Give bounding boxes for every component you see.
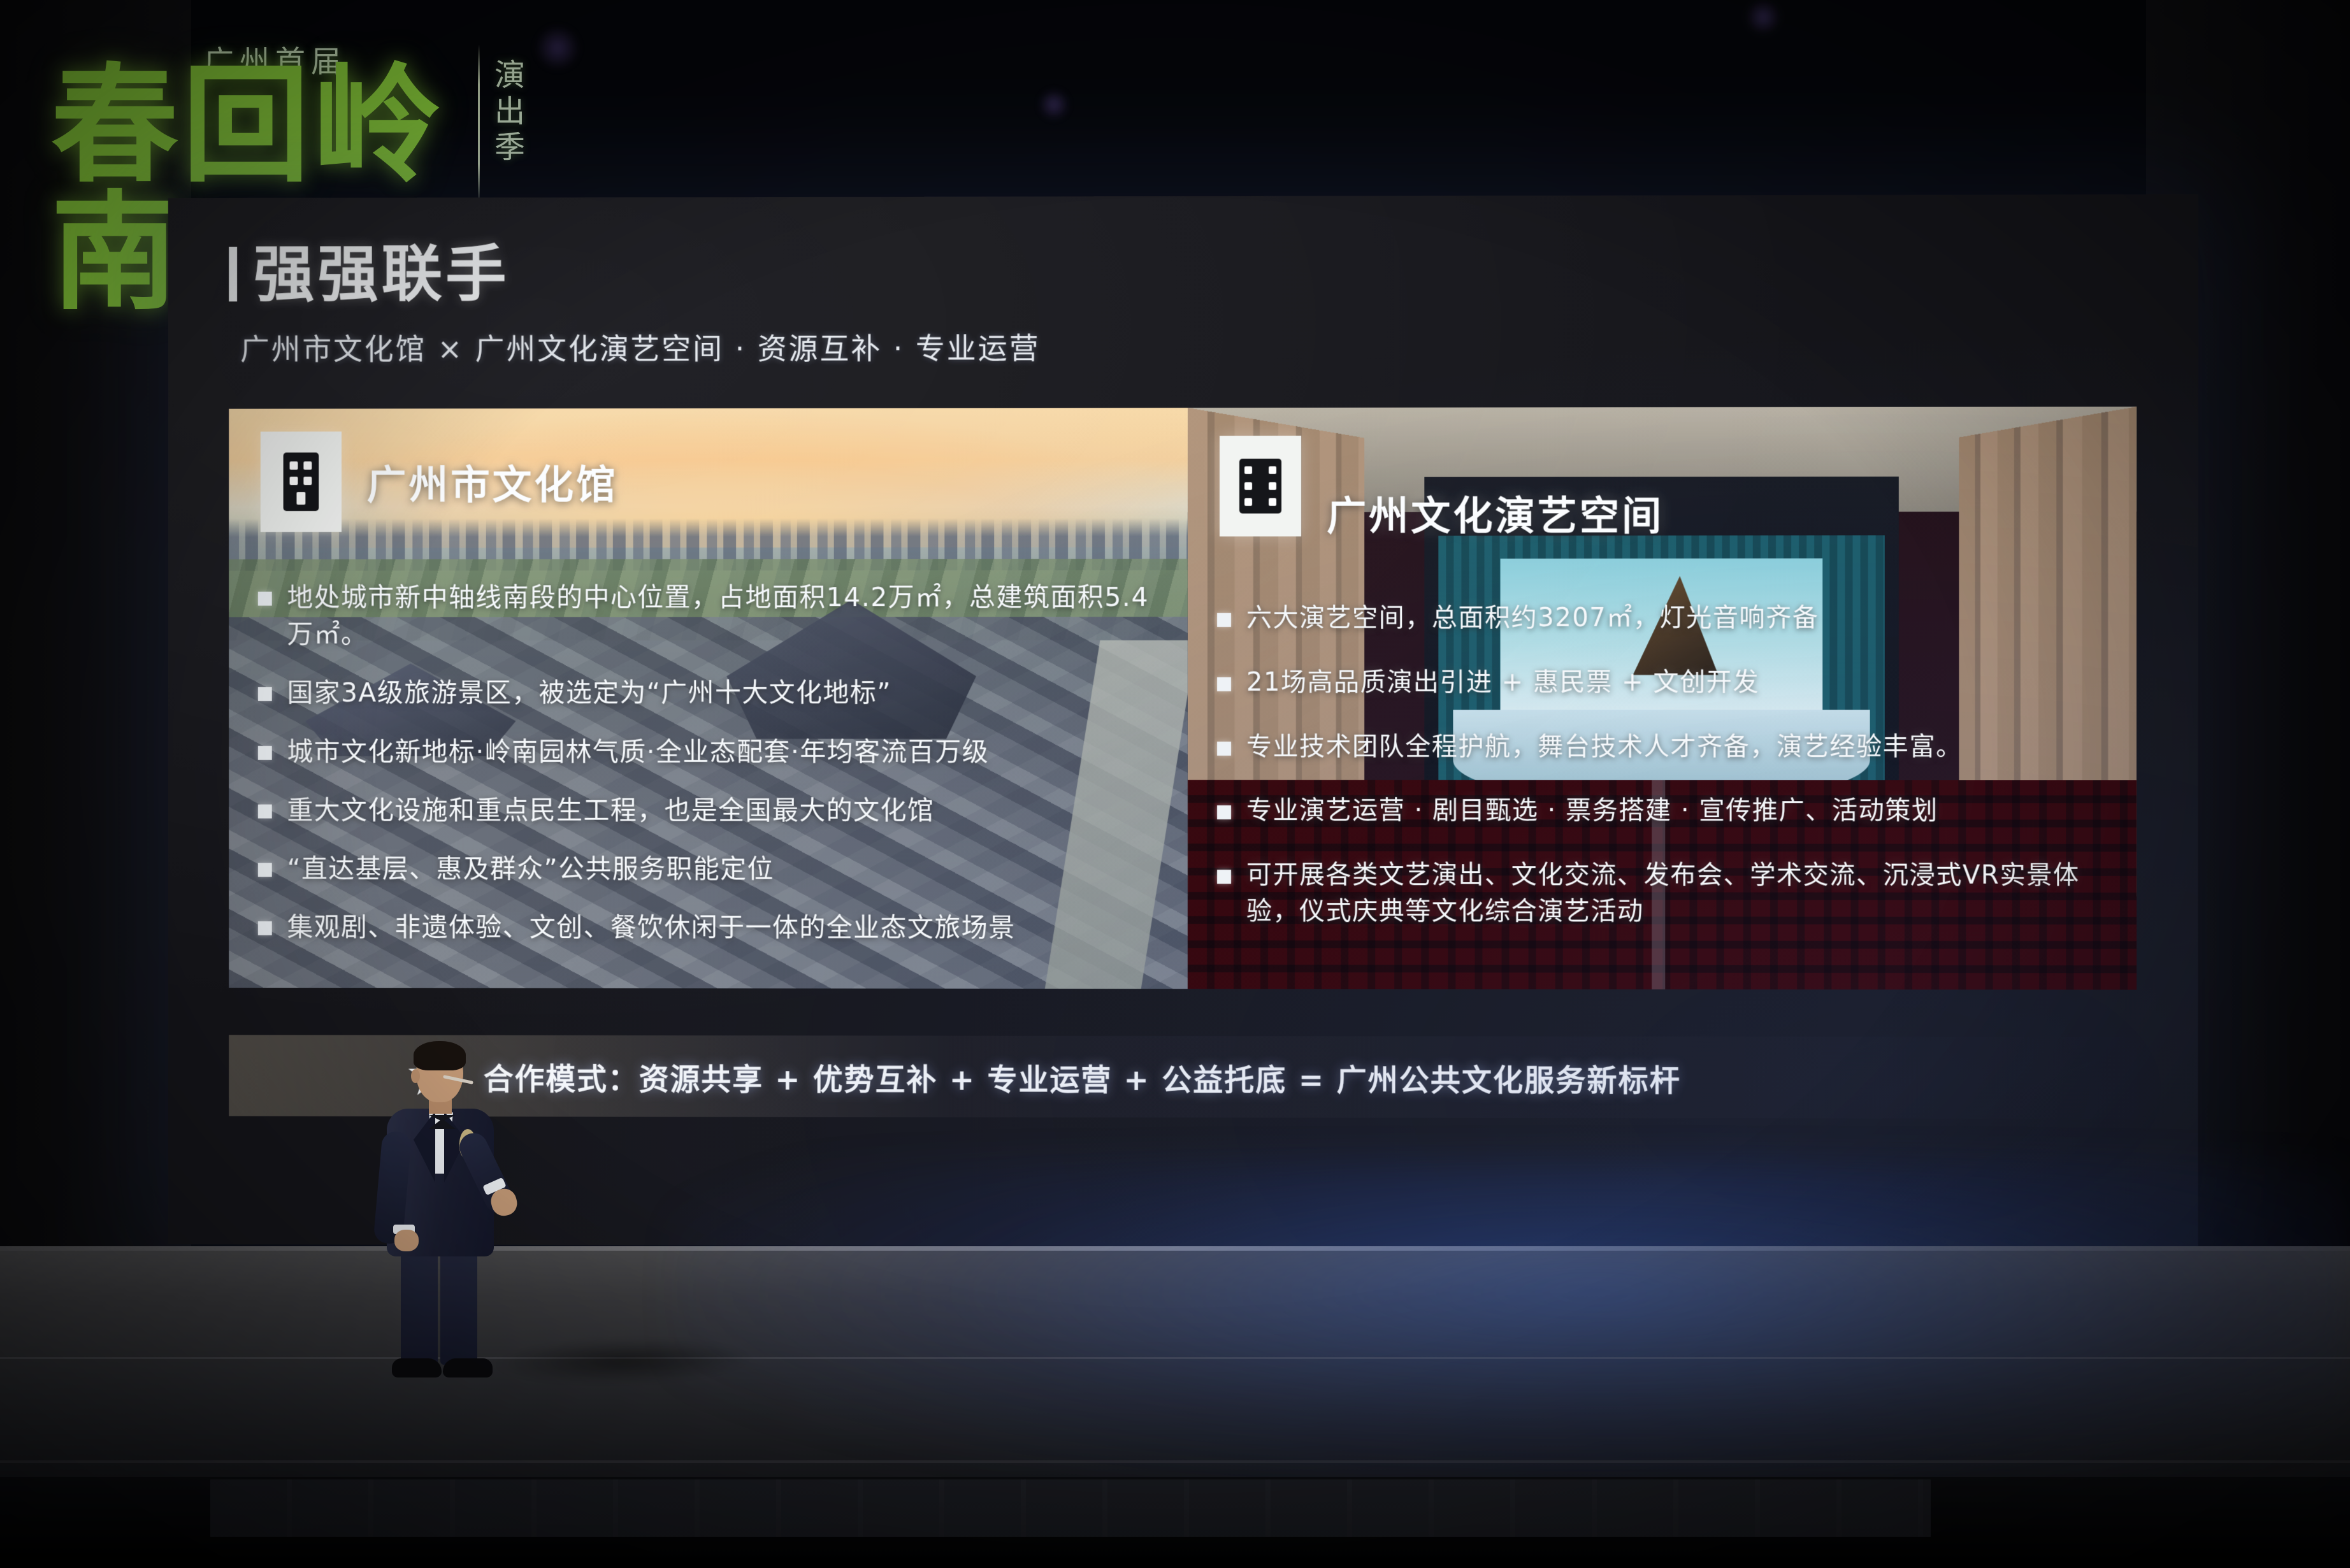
bullet-marker	[258, 746, 272, 760]
list-item: 可开展各类文艺演出、文化交流、发布会、学术交流、沉浸式VR实景体验，仪式庆典等文…	[1217, 857, 2120, 930]
bullet-text: 六大演艺空间，总面积约3207㎡，灯光音响齐备	[1246, 600, 1819, 637]
list-item: 国家3A级旅游景区，被选定为“广州十大文化地标”	[258, 674, 1162, 711]
footer-text: 合作模式：资源共享 + 优势互补 + 专业运营 + 公益托底 = 广州公共文化服…	[484, 1054, 1681, 1099]
bullet-text: 重大文化设施和重点民生工程，也是全国最大的文化馆	[287, 792, 935, 829]
bullet-marker	[1217, 613, 1231, 627]
list-item: 21场高品质演出引进 + 惠民票 + 文创开发	[1217, 664, 2120, 700]
list-item: 专业技术团队全程护航，舞台技术人才齐备，演艺经验丰富。	[1217, 729, 2120, 765]
right-panel-heading: 广州文化演艺空间	[1327, 484, 1664, 541]
list-item: “直达基层、惠及群众”公共服务职能定位	[258, 850, 1162, 888]
slide-title: 强强联手	[254, 243, 510, 305]
bullet-text: 21场高品质演出引进 + 惠民票 + 文创开发	[1246, 665, 1759, 701]
list-item: 重大文化设施和重点民生工程，也是全国最大的文化馆	[258, 792, 1162, 830]
left-panel-heading: 广州市文化馆	[367, 453, 618, 510]
presenter-figure	[347, 1045, 526, 1383]
blue-stage-light	[669, 1160, 2350, 1491]
bullet-marker	[1217, 742, 1231, 756]
building-icon	[261, 431, 342, 532]
list-item: 地处城市新中轴线南段的中心位置，占地面积14.2万㎡，总建筑面积5.4万㎡。	[258, 579, 1162, 653]
list-item: 六大演艺空间，总面积约3207㎡，灯光音响齐备	[1217, 600, 2120, 636]
title-accent-bar	[229, 247, 237, 302]
bullet-text: 国家3A级旅游景区，被选定为“广州十大文化地标”	[287, 675, 892, 712]
bullet-text: 城市文化新地标·岭南园林气质·全业态配套·年均客流百万级	[287, 733, 990, 770]
festival-logo-vertical: 演出季	[494, 57, 533, 166]
bullet-marker	[258, 804, 272, 818]
bullet-text: 专业技术团队全程护航，舞台技术人才齐备，演艺经验丰富。	[1246, 729, 1963, 765]
bullet-marker	[1217, 677, 1231, 691]
slide-title-row: 强强联手	[229, 240, 2137, 305]
bullet-marker	[1217, 805, 1231, 819]
right-panel-header: 广州文化演艺空间	[1220, 430, 1664, 542]
bullet-text: “直达基层、惠及群众”公共服务职能定位	[287, 850, 774, 887]
bullet-text: 地处城市新中轴线南段的中心位置，占地面积14.2万㎡，总建筑面积5.4万㎡。	[287, 579, 1162, 653]
bullet-marker	[258, 592, 272, 606]
bullet-marker	[1217, 870, 1231, 884]
list-item: 专业演艺运营 · 剧目甄选 · 票务搭建 · 宣传推广、活动策划	[1217, 793, 2120, 829]
bullet-text: 可开展各类文艺演出、文化交流、发布会、学术交流、沉浸式VR实景体验，仪式庆典等文…	[1246, 857, 2120, 930]
bullet-marker	[258, 863, 272, 877]
list-item: 城市文化新地标·岭南园林气质·全业态配套·年均客流百万级	[258, 733, 1162, 770]
left-panel-header: 广州市文化馆	[261, 431, 618, 532]
film-icon	[1220, 436, 1301, 536]
bullet-text: 集观剧、非遗体验、文创、餐饮休闲于一体的全业态文旅场景	[287, 909, 1016, 946]
left-panel-bullets: 地处城市新中轴线南段的中心位置，占地面积14.2万㎡，总建筑面积5.4万㎡。 国…	[258, 579, 1162, 968]
right-panel-bullets: 六大演艺空间，总面积约3207㎡，灯光音响齐备 21场高品质演出引进 + 惠民票…	[1217, 600, 2120, 958]
festival-logo-divider	[478, 45, 480, 204]
bullet-marker	[258, 921, 272, 935]
pit-rail	[210, 1479, 1931, 1537]
festival-logo: 广州首届 春回岭南 演出季	[45, 13, 548, 223]
auditorium-room: 广州首届 春回岭南 演出季 强强联手 广州市文化馆 × 广州文化演艺空间 · 资…	[0, 0, 2350, 1568]
right-panel: 广州文化演艺空间 六大演艺空间，总面积约3207㎡，灯光音响齐备 21场高品质演…	[1188, 406, 2137, 989]
slide-subtitle: 广州市文化馆 × 广州文化演艺空间 · 资源互补 · 专业运营	[240, 324, 2137, 368]
panels-container: 广州市文化馆 地处城市新中轴线南段的中心位置，占地面积14.2万㎡，总建筑面积5…	[229, 406, 2137, 989]
bullet-marker	[258, 687, 272, 701]
bullet-text: 专业演艺运营 · 剧目甄选 · 票务搭建 · 宣传推广、活动策划	[1246, 793, 1938, 829]
list-item: 集观剧、非遗体验、文创、餐饮休闲于一体的全业态文旅场景	[258, 909, 1162, 946]
left-panel: 广州市文化馆 地处城市新中轴线南段的中心位置，占地面积14.2万㎡，总建筑面积5…	[229, 408, 1188, 989]
stage-apron-line	[0, 1460, 2350, 1463]
